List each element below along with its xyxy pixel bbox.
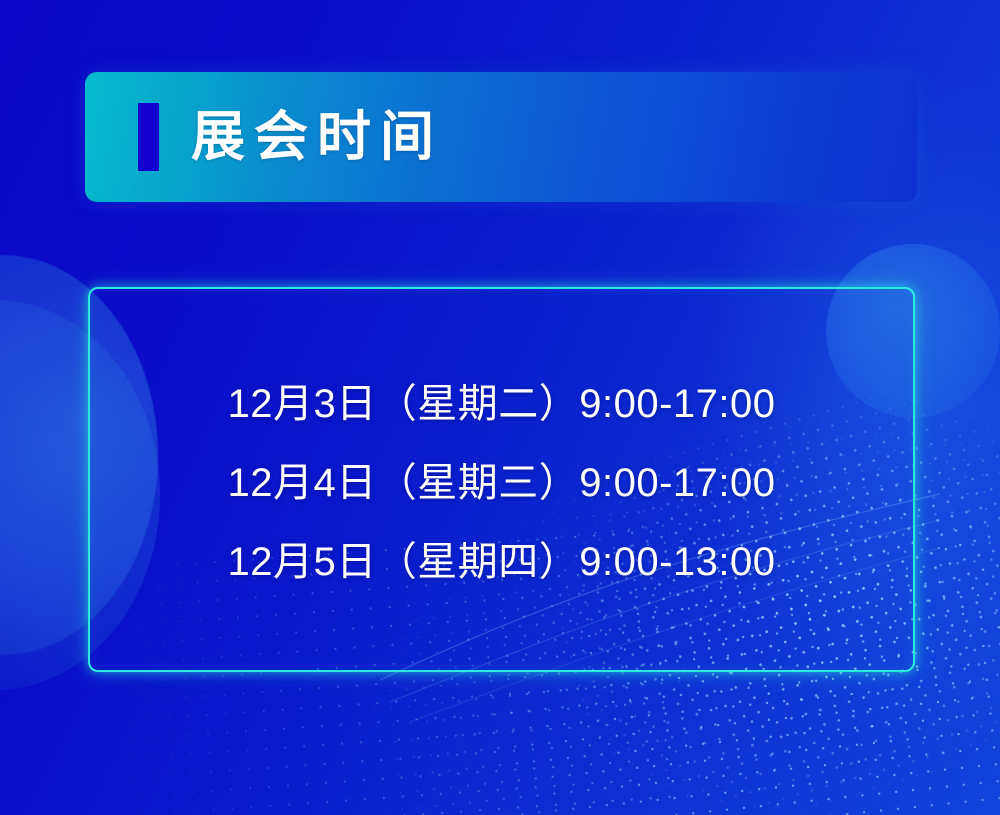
schedule-list: 12月3日（星期二）9:00-17:00 12月4日（星期三）9:00-17:0… (88, 287, 915, 672)
section-title-banner: 展会时间 (85, 72, 917, 202)
page-title: 展会时间 (191, 110, 443, 164)
exhibition-time-poster: 展会时间 12月3日（星期二）9:00-17:00 12月4日（星期三）9:00… (0, 0, 1000, 815)
schedule-line-2: 12月4日（星期三）9:00-17:00 (227, 462, 775, 504)
schedule-line-3: 12月5日（星期四）9:00-13:00 (227, 541, 775, 583)
title-accent-bar (138, 103, 159, 171)
schedule-line-1: 12月3日（星期二）9:00-17:00 (227, 383, 775, 425)
